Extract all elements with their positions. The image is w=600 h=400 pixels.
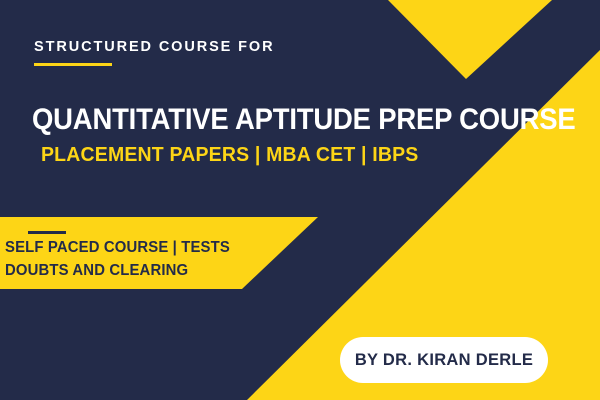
eyebrow-text: STRUCTURED COURSE FOR bbox=[34, 38, 275, 56]
feature-banner-text: SELF PACED COURSE | TESTS DOUBTS AND CLE… bbox=[5, 236, 230, 282]
subtitle-text: PLACEMENT PAPERS | MBA CET | IBPS bbox=[41, 142, 418, 167]
course-promo-banner: STRUCTURED COURSE FOR QUANTITATIVE APTIT… bbox=[0, 0, 600, 400]
feature-banner-rule bbox=[28, 231, 66, 234]
feature-banner-line-1: SELF PACED COURSE | TESTS bbox=[5, 236, 230, 259]
feature-banner-line-2: DOUBTS AND CLEARING bbox=[5, 259, 230, 282]
page-title: QUANTITATIVE APTITUDE PREP COURSE bbox=[32, 102, 576, 138]
eyebrow-underline-rule bbox=[34, 63, 112, 66]
author-badge: BY DR. KIRAN DERLE bbox=[340, 337, 548, 383]
author-badge-label: BY DR. KIRAN DERLE bbox=[355, 351, 533, 370]
